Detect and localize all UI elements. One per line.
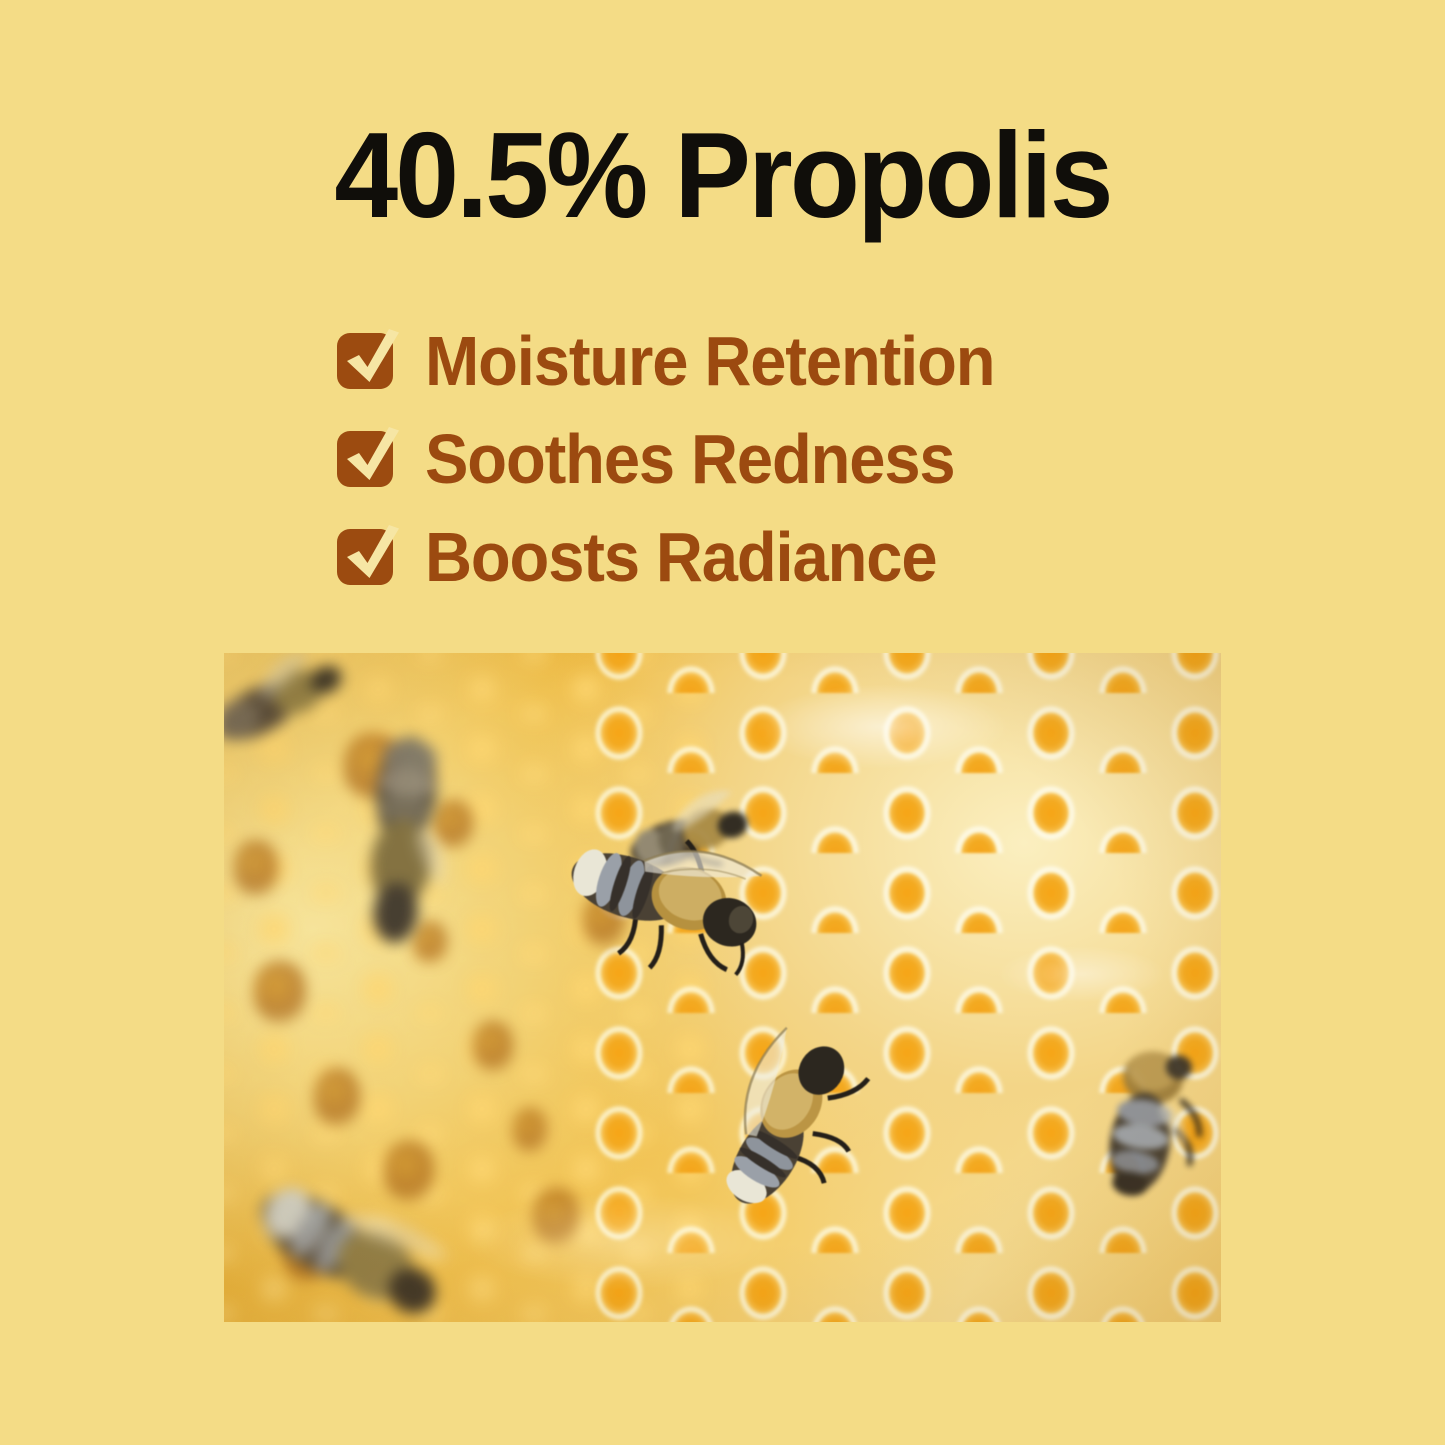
photo-inner [224,653,1221,1322]
page-title: 40.5% Propolis [43,114,1401,236]
propolis-infographic: 40.5% Propolis Moisture Retention Soothe… [0,0,1445,1445]
list-item: Soothes Redness [337,410,1237,508]
benefit-label: Soothes Redness [425,424,955,494]
honeycomb-photo [224,653,1221,1322]
checkbox-checked-icon [337,529,393,585]
benefit-list: Moisture Retention Soothes Redness Boost… [337,312,1237,606]
checkbox-checked-icon [337,431,393,487]
benefit-label: Moisture Retention [425,326,994,396]
benefit-label: Boosts Radiance [425,522,936,592]
list-item: Boosts Radiance [337,508,1237,606]
checkbox-checked-icon [337,333,393,389]
photo-vignette [224,653,1221,1322]
list-item: Moisture Retention [337,312,1237,410]
